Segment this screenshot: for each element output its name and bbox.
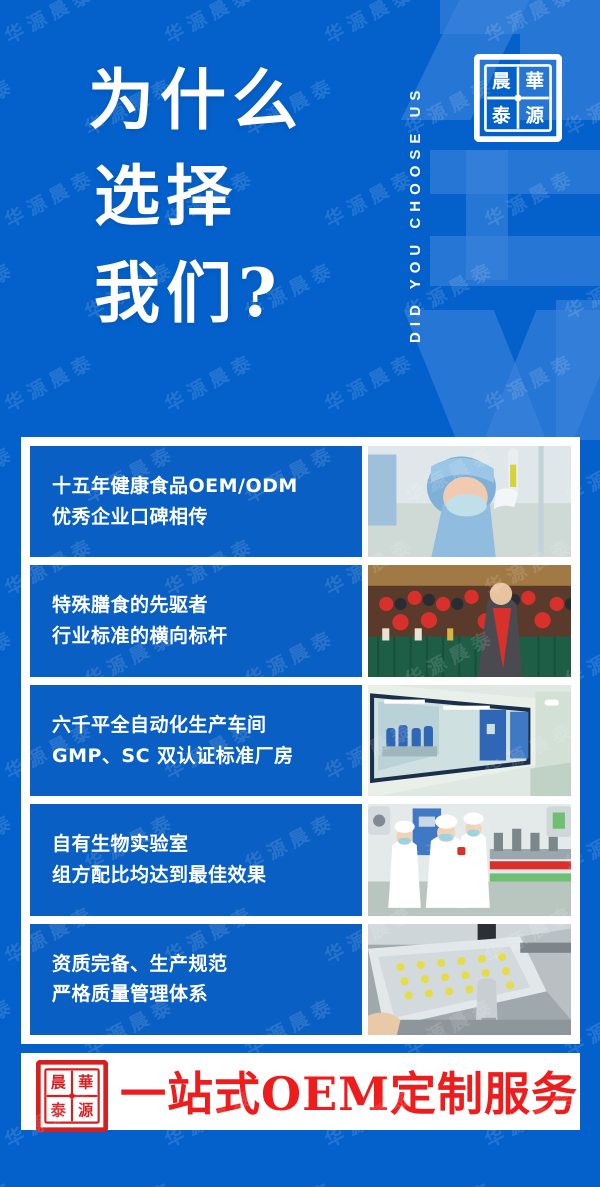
watermark-text: 华源晨泰 [400, 1174, 501, 1187]
feature-card-image [368, 685, 571, 796]
watermark-text: 华源晨泰 [0, 438, 20, 509]
feature-line-1: 特殊膳食的先驱者 [52, 590, 362, 621]
vertical-tagline: DID YOU CHOOSE US [398, 18, 424, 410]
watermark-text: 华源晨泰 [80, 1174, 181, 1187]
company-seal-icon: 晨 華 泰 源 [474, 54, 562, 142]
poster-header: 为什么 选择 我们? DID YOU CHOOSE US 晨 華 泰 源 [0, 0, 600, 437]
feature-card-image [368, 924, 571, 1035]
watermark-text: 华源晨泰 [0, 1174, 20, 1187]
feature-card[interactable]: 十五年健康食品OEM/ODM 优秀企业口碑相传 [30, 446, 571, 557]
title-line-2: 选择 [94, 148, 304, 244]
watermark-text: 华源晨泰 [560, 1174, 600, 1187]
feature-line-1: 自有生物实验室 [52, 829, 362, 860]
feature-card-list: 十五年健康食品OEM/ODM 优秀企业口碑相传 [30, 446, 571, 1035]
svg-text:泰: 泰 [491, 105, 511, 127]
feature-card-text: 六千平全自动化生产车间 GMP、SC 双认证标准厂房 [30, 685, 362, 796]
feature-card-image [368, 804, 571, 915]
svg-text:晨: 晨 [51, 1073, 67, 1091]
watermark-text: 华源晨泰 [0, 990, 20, 1061]
feature-card[interactable]: 自有生物实验室 组方配比均达到最佳效果 [30, 804, 571, 915]
svg-text:源: 源 [524, 105, 544, 127]
banner-slogan: 一站式OEM定制服务 [120, 1060, 570, 1122]
feature-line-1: 六千平全自动化生产车间 [52, 710, 362, 741]
svg-text:晨: 晨 [492, 71, 511, 92]
title-line-1: 为什么 [88, 52, 304, 148]
svg-text:泰: 泰 [50, 1101, 67, 1119]
feature-card-text: 特殊膳食的先驱者 行业标准的横向标杆 [30, 565, 362, 676]
watermark-text: 华源晨泰 [0, 622, 20, 693]
feature-card[interactable]: 资质完备、生产规范 严格质量管理体系 [30, 924, 571, 1035]
feature-line-2: 严格质量管理体系 [52, 979, 362, 1010]
poster-root: 为什么 选择 我们? DID YOU CHOOSE US 晨 華 泰 源 [0, 0, 600, 1187]
feature-card-text: 资质完备、生产规范 严格质量管理体系 [30, 924, 362, 1035]
svg-text:源: 源 [78, 1101, 93, 1119]
watermark-text: 华源晨泰 [240, 1174, 341, 1187]
feature-line-2: 优秀企业口碑相传 [52, 502, 362, 533]
feature-line-2: 组方配比均达到最佳效果 [52, 860, 362, 891]
svg-text:華: 華 [78, 1073, 93, 1091]
feature-card-image [368, 446, 571, 557]
feature-line-2: GMP、SC 双认证标准厂房 [52, 741, 362, 772]
feature-card-image [368, 565, 571, 676]
feature-card-text: 十五年健康食品OEM/ODM 优秀企业口碑相传 [30, 446, 362, 557]
feature-card-text: 自有生物实验室 组方配比均达到最佳效果 [30, 804, 362, 915]
page-title: 为什么 选择 我们? [88, 52, 304, 341]
svg-text:華: 華 [525, 70, 543, 92]
feature-line-1: 十五年健康食品OEM/ODM [52, 471, 362, 502]
title-line-3: 我们? [94, 245, 304, 341]
feature-card[interactable]: 六千平全自动化生产车间 GMP、SC 双认证标准厂房 [30, 685, 571, 796]
feature-line-2: 行业标准的横向标杆 [52, 621, 362, 652]
feature-line-1: 资质完备、生产规范 [52, 949, 362, 980]
feature-card[interactable]: 特殊膳食的先驱者 行业标准的横向标杆 [30, 565, 571, 676]
company-seal-red-icon: 晨 華 泰 源 [36, 1060, 108, 1132]
watermark-text: 华源晨泰 [0, 806, 20, 877]
